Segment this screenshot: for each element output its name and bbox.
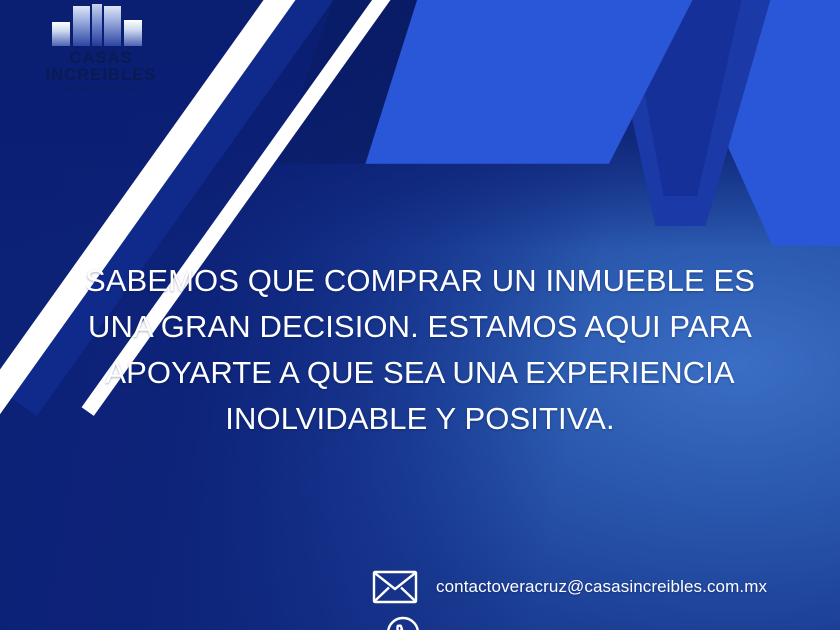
building-bar-1 (52, 22, 70, 46)
brand-name: CASAS INCREIBLES (22, 50, 180, 83)
building-bar-3 (92, 4, 102, 46)
buildings-skyline-icon (42, 4, 160, 46)
brand-tagline: BIENES RAICES (22, 87, 180, 93)
phone-circle-icon[interactable] (386, 616, 420, 630)
envelope-icon (372, 570, 418, 604)
promotional-poster: CASAS INCREIBLES BIENES RAICES SABEMOS Q… (0, 0, 840, 630)
brand-logo: CASAS INCREIBLES BIENES RAICES (22, 4, 180, 78)
building-bar-4 (104, 6, 121, 46)
building-bar-2 (73, 6, 90, 46)
building-bar-5 (124, 20, 142, 46)
contact-email-text[interactable]: contactoveracruz@casasincreibles.com.mx (436, 577, 767, 597)
contact-email-row[interactable]: contactoveracruz@casasincreibles.com.mx (372, 570, 767, 604)
headline-text: SABEMOS QUE COMPRAR UN INMUEBLE ES UNA G… (52, 258, 788, 442)
